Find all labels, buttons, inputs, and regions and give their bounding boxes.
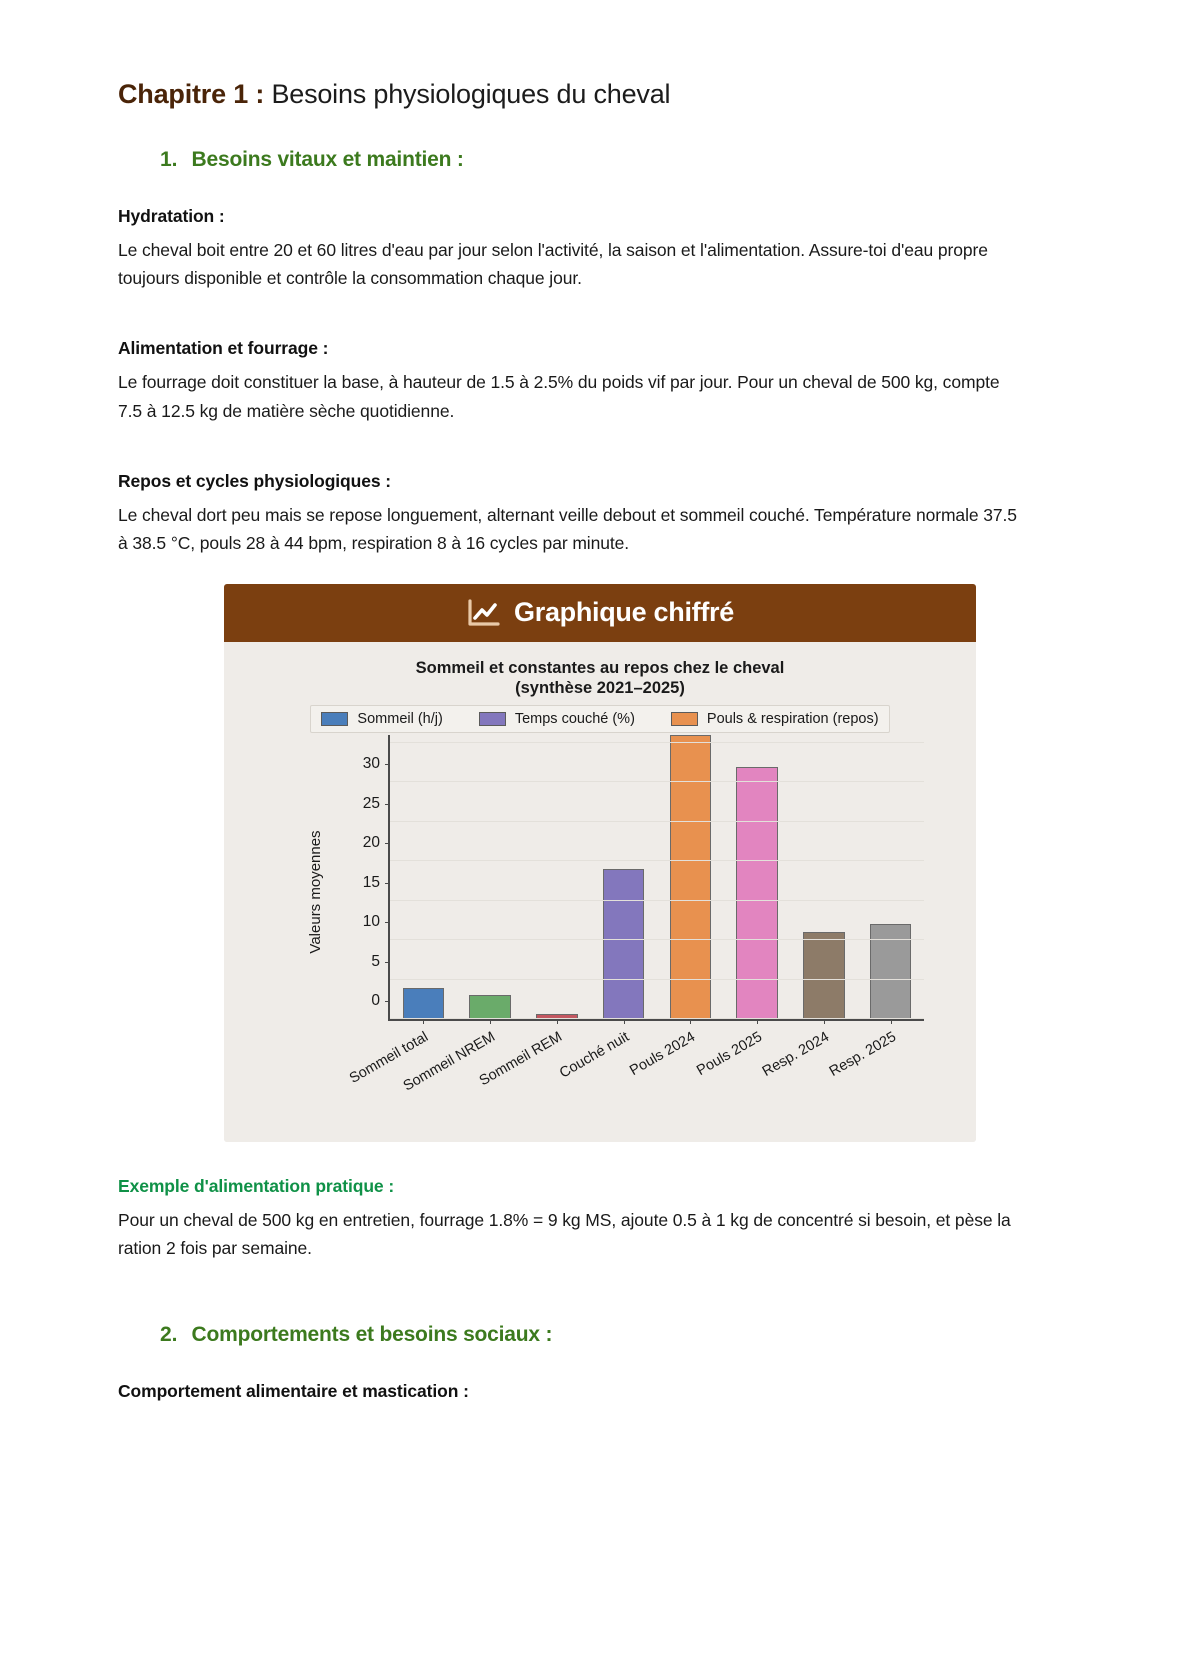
bar-4 xyxy=(670,735,711,1019)
legend-item-0: Sommeil (h/j) xyxy=(321,711,442,727)
block-alimentation: Alimentation et fourrage : Le fourrage d… xyxy=(118,338,1082,425)
y-tick-label: 0 xyxy=(371,992,390,1010)
section-number-1: 1. xyxy=(160,148,178,172)
chart-ylabel: Valeurs moyennes xyxy=(307,831,324,954)
gridline xyxy=(390,1018,924,1019)
x-tickmark xyxy=(423,1019,424,1024)
x-tickmark xyxy=(490,1019,491,1024)
section-heading-2: 2. Comportements et besoins sociaux : xyxy=(160,1323,1082,1347)
spacer xyxy=(118,1142,1082,1176)
bar-slot-7: Resp. 2025 xyxy=(857,735,924,1019)
chart-title: Sommeil et constantes au repos chez le c… xyxy=(236,658,964,679)
x-tickmark xyxy=(757,1019,758,1024)
chapter-title-text: Besoins physiologiques du cheval xyxy=(264,79,670,109)
spacer xyxy=(118,451,1082,471)
chart-axes: Sommeil totalSommeil NREMSommeil REMCouc… xyxy=(388,735,924,1021)
legend-item-1: Temps couché (%) xyxy=(479,711,635,727)
document-page: Chapitre 1 : Besoins physiologiques du c… xyxy=(0,0,1200,1402)
y-tick-label: 10 xyxy=(363,913,390,931)
block-body-repos: Le cheval dort peu mais se repose longue… xyxy=(118,501,1018,558)
y-tick-label: 15 xyxy=(363,874,390,892)
bar-slot-6: Resp. 2024 xyxy=(791,735,858,1019)
legend-swatch-1 xyxy=(479,712,506,726)
block-repos: Repos et cycles physiologiques : Le chev… xyxy=(118,471,1082,558)
block-hydratation: Hydratation : Le cheval boit entre 20 et… xyxy=(118,206,1082,293)
gridline xyxy=(390,939,924,940)
bar-slot-5: Pouls 2025 xyxy=(724,735,791,1019)
spacer xyxy=(118,318,1082,338)
legend-label-1: Temps couché (%) xyxy=(515,711,635,727)
y-tick-label: 20 xyxy=(363,834,390,852)
gridline xyxy=(390,742,924,743)
bar-slot-2: Sommeil REM xyxy=(524,735,591,1019)
chart-legend: Sommeil (h/j)Temps couché (%)Pouls & res… xyxy=(310,705,889,733)
gridline xyxy=(390,781,924,782)
x-tick-label-6: Resp. 2024 xyxy=(760,1029,832,1080)
gridline xyxy=(390,979,924,980)
y-tick-label: 5 xyxy=(371,953,390,971)
block-title-repos: Repos et cycles physiologiques : xyxy=(118,471,1082,492)
x-tick-label-4: Pouls 2024 xyxy=(628,1029,699,1079)
chart-card-title: Graphique chiffré xyxy=(514,597,734,628)
block-title-alimentation: Alimentation et fourrage : xyxy=(118,338,1082,359)
section-label-1: Besoins vitaux et maintien : xyxy=(192,148,464,172)
bar-slot-1: Sommeil NREM xyxy=(457,735,524,1019)
legend-label-0: Sommeil (h/j) xyxy=(357,711,442,727)
chart-body: Sommeil et constantes au repos chez le c… xyxy=(224,642,976,1142)
section-number-2: 2. xyxy=(160,1323,178,1347)
x-tickmark xyxy=(557,1019,558,1024)
x-tick-label-3: Couché nuit xyxy=(557,1029,632,1082)
x-tickmark xyxy=(690,1019,691,1024)
gridline xyxy=(390,860,924,861)
chart-plot-area: Valeurs moyennes Sommeil totalSommeil NR… xyxy=(236,727,964,1057)
legend-item-2: Pouls & respiration (repos) xyxy=(671,711,879,727)
x-tickmark xyxy=(824,1019,825,1024)
y-tick-label: 25 xyxy=(363,795,390,813)
page-title: Chapitre 1 : Besoins physiologiques du c… xyxy=(118,78,1082,112)
chart-bars: Sommeil totalSommeil NREMSommeil REMCouc… xyxy=(390,735,924,1019)
block-exemple: Exemple d'alimentation pratique : Pour u… xyxy=(118,1176,1082,1263)
gridline xyxy=(390,900,924,901)
block-body-hydratation: Le cheval boit entre 20 et 60 litres d'e… xyxy=(118,236,1018,293)
legend-label-2: Pouls & respiration (repos) xyxy=(707,711,879,727)
chart-card-header: Graphique chiffré xyxy=(224,584,976,642)
legend-swatch-0 xyxy=(321,712,348,726)
y-tick-label: 30 xyxy=(363,755,390,773)
block-title-hydratation: Hydratation : xyxy=(118,206,1082,227)
section-label-2: Comportements et besoins sociaux : xyxy=(192,1323,553,1347)
x-tick-label-7: Resp. 2025 xyxy=(826,1029,898,1080)
x-tickmark xyxy=(891,1019,892,1024)
x-tickmark xyxy=(624,1019,625,1024)
bar-slot-3: Couché nuit xyxy=(590,735,657,1019)
chart-line-icon xyxy=(466,598,500,628)
bar-slot-0: Sommeil total xyxy=(390,735,457,1019)
legend-swatch-2 xyxy=(671,712,698,726)
block-body-alimentation: Le fourrage doit constituer la base, à h… xyxy=(118,368,1018,425)
chart-subtitle: (synthèse 2021–2025) xyxy=(236,678,964,699)
bar-slot-4: Pouls 2024 xyxy=(657,735,724,1019)
block-title-comportement: Comportement alimentaire et mastication … xyxy=(118,1381,1082,1402)
section-heading-1: 1. Besoins vitaux et maintien : xyxy=(160,148,1082,172)
gridline xyxy=(390,821,924,822)
block-body-exemple: Pour un cheval de 500 kg en entretien, f… xyxy=(118,1206,1018,1263)
bar-3 xyxy=(603,869,644,1019)
x-tick-label-5: Pouls 2025 xyxy=(694,1029,765,1079)
bar-6 xyxy=(803,932,844,1019)
bar-5 xyxy=(736,767,777,1019)
spacer xyxy=(118,1289,1082,1323)
bar-0 xyxy=(403,988,444,1020)
bar-1 xyxy=(469,995,510,1019)
chapter-label: Chapitre 1 : xyxy=(118,79,264,109)
block-comportement: Comportement alimentaire et mastication … xyxy=(118,1381,1082,1402)
chart-card: Graphique chiffré Sommeil et constantes … xyxy=(224,584,976,1142)
block-title-exemple: Exemple d'alimentation pratique : xyxy=(118,1176,1082,1197)
